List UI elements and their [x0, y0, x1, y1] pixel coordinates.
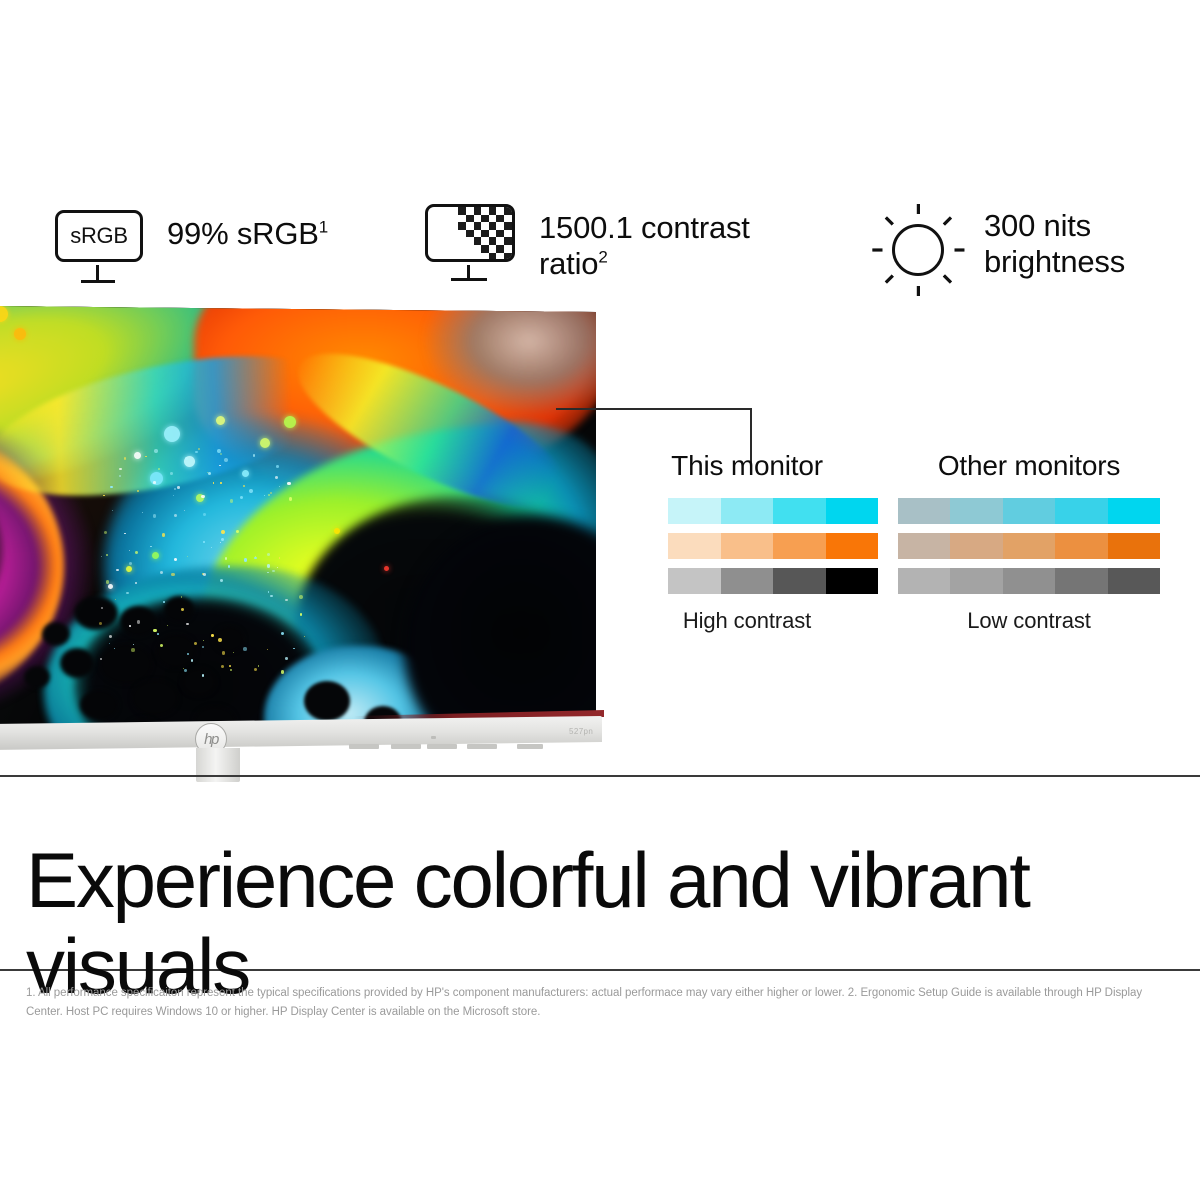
footnote-ref-2: 2: [598, 248, 607, 267]
checker-cell: [496, 245, 504, 253]
color-swatch: [616, 568, 668, 594]
bezel-port: [391, 744, 421, 749]
comparison-column-this-monitor: This monitor High contrast: [616, 452, 878, 634]
monitor-model-label: 527pn: [569, 727, 593, 736]
checker-cell: [458, 222, 466, 230]
checker-cell: [474, 237, 482, 245]
this-monitor-title: This monitor: [616, 452, 878, 480]
color-swatch: [826, 498, 878, 524]
contrast-comparison: This monitor High contrast Other monitor…: [616, 452, 1176, 652]
checker-cell: [481, 245, 489, 253]
monitor-product-image: hp 527pn: [0, 306, 620, 776]
color-swatch: [721, 498, 773, 524]
low-contrast-caption: Low contrast: [898, 608, 1160, 634]
checker-cell: [496, 215, 504, 223]
high-contrast-caption: High contrast: [616, 608, 878, 634]
other-monitors-bar-orange: [898, 533, 1160, 559]
art-shape: [0, 306, 596, 724]
color-swatch: [616, 498, 668, 524]
comparison-column-other-monitors: Other monitors Low contrast: [898, 452, 1160, 634]
this-monitor-bar-orange: [616, 533, 878, 559]
color-swatch: [668, 498, 720, 524]
checker-cell: [481, 230, 489, 238]
color-swatch: [668, 568, 720, 594]
color-swatch: [1055, 533, 1107, 559]
color-swatch: [950, 533, 1002, 559]
checker-cell: [474, 207, 482, 215]
checker-cell: [496, 230, 504, 238]
checker-cell: [474, 222, 482, 230]
feature-contrast-ratio: 1500.1 contrast ratio2: [425, 204, 750, 284]
checker-cell: [481, 215, 489, 223]
checker-cell: [504, 253, 512, 261]
checker-cell: [489, 237, 497, 245]
color-swatch: [668, 533, 720, 559]
other-monitors-bar-grayscale: [898, 568, 1160, 594]
color-swatch: [1108, 568, 1160, 594]
color-swatch: [898, 533, 950, 559]
checker-cell: [489, 207, 497, 215]
feature-srgb-label: 99% sRGB1: [167, 210, 328, 252]
bezel-port-strip: [349, 744, 569, 750]
screen-wallpaper-art: [0, 306, 596, 724]
power-led: [431, 736, 436, 739]
bezel-port: [467, 744, 497, 749]
footnotes: 1. All performance specificaiton represe…: [26, 984, 1171, 1021]
color-swatch: [1108, 533, 1160, 559]
color-swatch: [721, 568, 773, 594]
this-monitor-bar-cyan: [616, 498, 878, 524]
monitor-screen: [0, 306, 596, 724]
color-swatch: [898, 568, 950, 594]
color-swatch: [773, 533, 825, 559]
checker-cell: [504, 207, 512, 215]
bezel-port: [517, 744, 543, 749]
color-swatch: [950, 568, 1002, 594]
bezel-port: [427, 744, 457, 749]
color-swatch: [773, 568, 825, 594]
checker-cell: [466, 230, 474, 238]
color-swatch: [1003, 498, 1055, 524]
srgb-badge-text: sRGB: [70, 223, 127, 249]
checker-cell: [489, 222, 497, 230]
color-swatch: [950, 498, 1002, 524]
other-monitors-title: Other monitors: [898, 452, 1160, 480]
monitor-stand: [196, 748, 240, 782]
feature-brightness-label: 300 nits brightness: [984, 202, 1125, 280]
sun-brightness-icon: [872, 204, 964, 296]
srgb-monitor-icon: sRGB: [55, 210, 147, 286]
color-swatch: [616, 533, 668, 559]
color-swatch: [1055, 498, 1107, 524]
feature-brightness: 300 nits brightness: [872, 202, 1125, 296]
color-swatch: [721, 533, 773, 559]
bezel-port: [349, 744, 379, 749]
color-swatch: [826, 568, 878, 594]
contrast-checkerboard-monitor-icon: [425, 204, 519, 284]
color-swatch: [1003, 568, 1055, 594]
other-monitors-bar-cyan: [898, 498, 1160, 524]
feature-contrast-label: 1500.1 contrast ratio2: [539, 204, 750, 282]
divider-top: [0, 775, 1200, 777]
feature-srgb: sRGB 99% sRGB1: [55, 210, 328, 286]
this-monitor-bar-grayscale: [616, 568, 878, 594]
footnote-ref-1: 1: [319, 218, 328, 237]
color-swatch: [773, 498, 825, 524]
checker-cell: [504, 237, 512, 245]
checker-cell: [466, 215, 474, 223]
color-swatch: [1055, 568, 1107, 594]
color-swatch: [826, 533, 878, 559]
color-swatch: [1108, 498, 1160, 524]
color-swatch: [1003, 533, 1055, 559]
checker-cell: [489, 253, 497, 261]
feature-highlights-row: sRGB 99% sRGB1 1500.1 contrast ratio2 30…: [0, 196, 1200, 306]
checker-cell: [504, 222, 512, 230]
color-swatch: [898, 498, 950, 524]
marketing-slide: sRGB 99% sRGB1 1500.1 contrast ratio2 30…: [0, 0, 1200, 1200]
checker-cell: [458, 207, 466, 215]
